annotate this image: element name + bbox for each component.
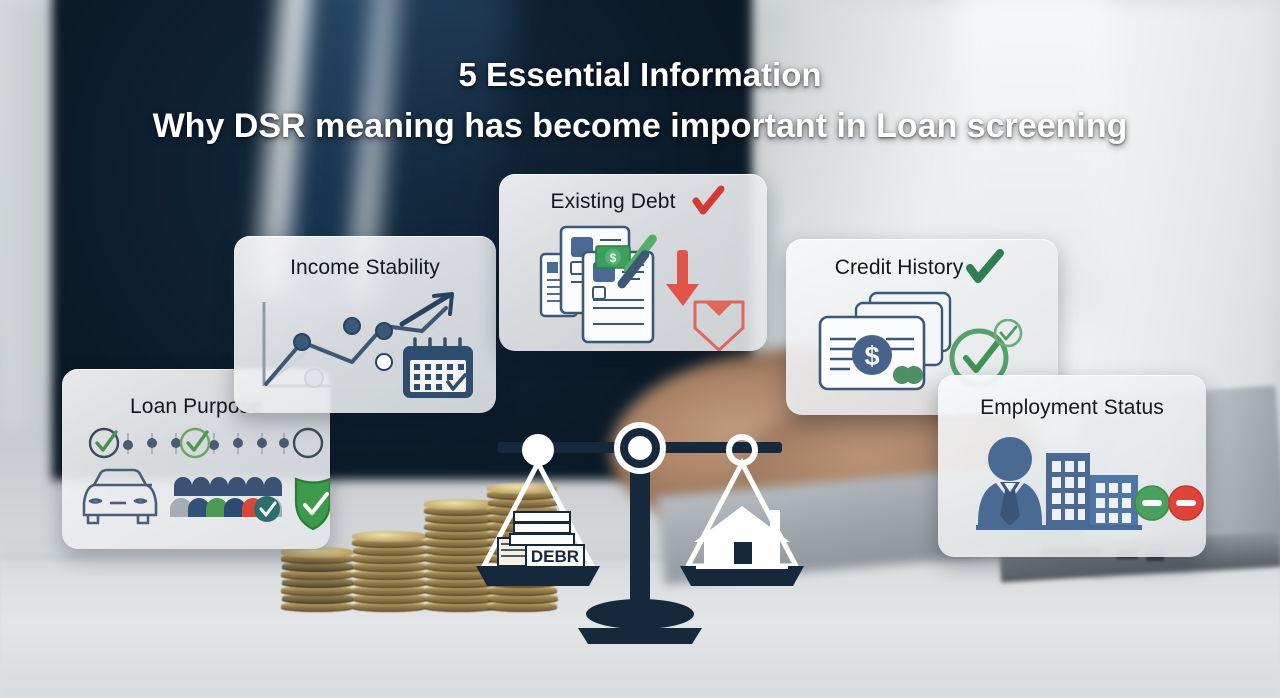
minus-circle-red-icon [1169, 486, 1203, 520]
office-buildings-icon [976, 453, 1142, 530]
card-existing-debt[interactable]: Existing Debt [499, 174, 767, 351]
card-income-stability[interactable]: Income Stability [234, 236, 496, 413]
people-row-icon [170, 477, 282, 522]
house-icon [694, 506, 790, 569]
chevron-outline-icon [695, 302, 743, 350]
balance-scale: DEBR [470, 418, 810, 650]
card-title-existing-debt: Existing Debt [499, 190, 767, 214]
empty-circle-icon [294, 429, 322, 457]
down-arrow-icon [666, 250, 699, 306]
svg-text:$: $ [610, 251, 617, 265]
car-icon [84, 470, 156, 523]
calendar-check-icon [403, 339, 473, 398]
infographic-canvas: DEBR Loan Purpose [0, 0, 1280, 698]
debt-pan-label: DEBR [531, 547, 579, 566]
progress-dots [123, 438, 289, 450]
coin-top-face [352, 531, 426, 542]
title-line-1: 5 Essential Information [0, 56, 1280, 94]
check-circle-green [181, 429, 209, 457]
coin-stack-1 [281, 546, 353, 612]
card-title-credit-history: Credit History [786, 256, 1058, 280]
documents-icon [541, 227, 653, 342]
up-arrow-icon [434, 294, 452, 314]
chevron-fill-icon [705, 302, 733, 316]
dollar-bill-icon: $ [596, 246, 630, 268]
businessman-icon [978, 437, 1042, 527]
minus-circle-green-icon [1135, 486, 1169, 520]
green-bar-icon [622, 233, 659, 276]
navy-bar-icon [616, 248, 651, 290]
svg-text:$: $ [864, 341, 879, 371]
card-employment-status[interactable]: Employment Status [938, 375, 1206, 557]
check-circle-navy [90, 429, 118, 457]
credit-cards-icon: $ [820, 293, 950, 389]
title-line-2: Why DSR meaning has become important in … [0, 107, 1280, 146]
card-title-employment-status: Employment Status [938, 396, 1206, 420]
line-chart-icon [264, 294, 452, 387]
card-title-income-stability: Income Stability [234, 256, 496, 280]
dollar-circle-icon [852, 335, 892, 375]
coin-stack-2 [352, 532, 426, 612]
shield-check-icon [296, 479, 330, 529]
